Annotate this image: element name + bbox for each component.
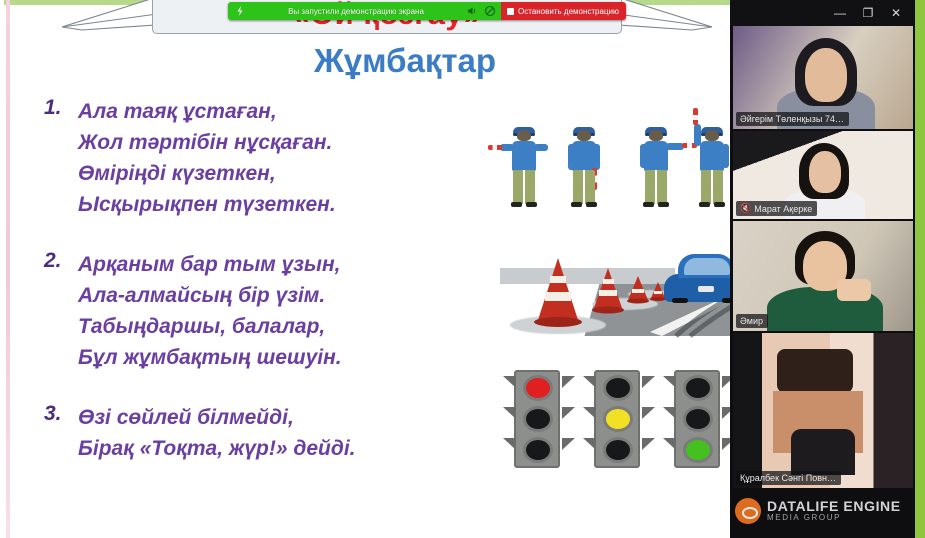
stop-square-icon xyxy=(507,8,514,15)
lamp-yellow-off xyxy=(683,406,713,432)
riddle-item: 2. Арқаным бар тым ұзын, Ала-алмайсың бі… xyxy=(44,249,474,373)
restore-button[interactable]: ❐ xyxy=(855,2,881,24)
riddle-number: 2. xyxy=(44,249,62,273)
riddle-line: Ала таяқ ұстаған, xyxy=(78,96,474,127)
riddle-line: Жол тәртібін нұсқаған. xyxy=(78,127,474,158)
traffic-lights-photo xyxy=(500,362,740,474)
lamp-green-off xyxy=(523,437,553,463)
participant-name-label: 🔇 Марат Ақерке xyxy=(736,201,817,216)
lamp-red xyxy=(523,375,553,401)
traffic-cones-photo xyxy=(500,232,740,344)
screenshare-status: Вы запустили демонстрацию экрана xyxy=(228,2,501,20)
slide-left-decorative-stripe xyxy=(6,0,10,538)
traffic-police-photo xyxy=(500,96,740,214)
riddle-line: Ысқырықпен түзеткен. xyxy=(78,189,474,220)
participant-name: Әйгерім Төленқызы 74… xyxy=(740,114,844,124)
riddle-line: Табыңдаршы, балалар, xyxy=(78,311,474,342)
participant-name-label: Әйгерім Төленқызы 74… xyxy=(736,112,849,126)
lamp-red-off xyxy=(603,375,633,401)
lamp-green-off xyxy=(603,437,633,463)
zoom-logo-icon xyxy=(234,5,246,17)
window-right-edge xyxy=(915,0,925,538)
lamp-red-off xyxy=(683,375,713,401)
lamp-yellow xyxy=(603,406,633,432)
slide-subtitle: Жұмбақтар xyxy=(0,42,810,80)
screenshare-message: Вы запустили демонстрацию экрана xyxy=(252,7,460,16)
zoom-screenshare-window: «Ой қозғау» Жұмбақтар 1. Ала таяқ ұстаға… xyxy=(0,0,925,538)
participant-tile[interactable]: Әмир xyxy=(733,221,913,331)
riddle-line: Бұл жұмбақтың шешуін. xyxy=(78,342,474,373)
riddle-item: 1. Ала таяқ ұстаған, Жол тәртібін нұсқағ… xyxy=(44,96,474,220)
participant-tile[interactable]: 🔇 Марат Ақерке xyxy=(733,131,913,219)
participant-name-label: Құралбек Сәнгі Повн… xyxy=(736,471,841,485)
slide-left-margin xyxy=(0,0,4,538)
lamp-green xyxy=(683,437,713,463)
participant-tile[interactable]: Құралбек Сәнгі Повн… xyxy=(733,333,913,488)
traffic-light-yellow xyxy=(594,370,640,468)
stop-share-label: Остановить демонстрацию xyxy=(518,7,619,16)
stop-share-button[interactable]: Остановить демонстрацию xyxy=(501,2,626,20)
riddle-line: Бірақ «Тоқта, жүр!» дейді. xyxy=(78,433,474,464)
traffic-light-green xyxy=(674,370,720,468)
riddle-number: 3. xyxy=(44,402,62,426)
riddle-item: 3. Өзі сөйлей білмейді, Бірақ «Тоқта, жү… xyxy=(44,402,474,464)
participant-tile[interactable]: Әйгерім Төленқызы 74… xyxy=(733,26,913,129)
riddle-line: Арқаным бар тым ұзын, xyxy=(78,249,474,280)
riddle-number: 1. xyxy=(44,96,62,120)
participant-name-label: Әмир xyxy=(736,314,768,328)
participant-name: Құралбек Сәнгі Повн… xyxy=(740,473,836,483)
slide-illustrations xyxy=(500,96,745,474)
window-titlebar: — ❐ ✕ xyxy=(730,0,915,26)
riddle-line: Өзі сөйлей білмейді, xyxy=(78,402,474,433)
minimize-button[interactable]: — xyxy=(827,2,853,24)
riddle-line: Ала-алмайсың бір үзім. xyxy=(78,280,474,311)
mic-muted-icon: 🔇 xyxy=(740,203,751,214)
shared-slide: «Ой қозғау» Жұмбақтар 1. Ала таяқ ұстаға… xyxy=(0,0,810,538)
participant-video xyxy=(733,333,913,488)
riddle-line: Өміріңді күзеткен, xyxy=(78,158,474,189)
participant-name: Әмир xyxy=(740,316,763,326)
mute-alert-icon[interactable] xyxy=(484,5,496,17)
screenshare-notification-bar[interactable]: Вы запустили демонстрацию экрана Останов… xyxy=(228,2,626,20)
lamp-yellow-off xyxy=(523,406,553,432)
riddle-list: 1. Ала таяқ ұстаған, Жол тәртібін нұсқағ… xyxy=(44,96,474,493)
traffic-light-red xyxy=(514,370,560,468)
participant-name: Марат Ақерке xyxy=(754,204,812,214)
speaker-icon[interactable] xyxy=(466,5,478,17)
close-button[interactable]: ✕ xyxy=(883,2,909,24)
